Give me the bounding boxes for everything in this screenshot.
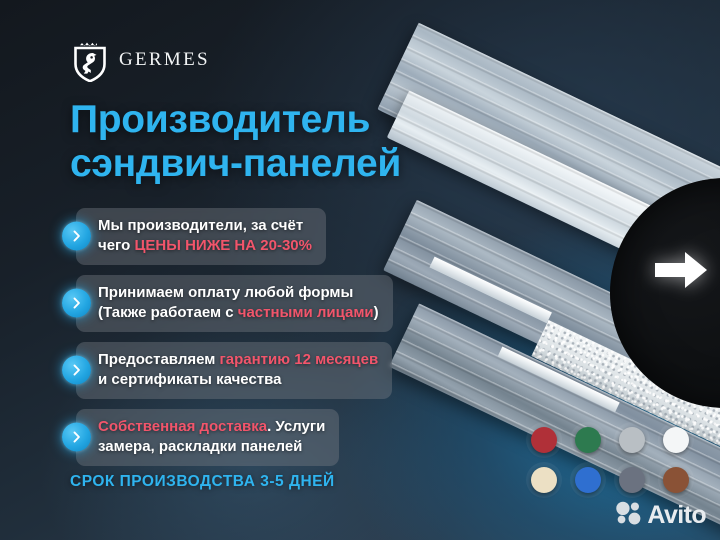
swatch-cell (566, 460, 610, 500)
panel-edge-lip-lower (498, 347, 620, 413)
marketplace-badge: Avito (615, 501, 706, 530)
colour-swatch (619, 467, 645, 493)
benefit-text-box: Собственная доставка. Услугизамера, раск… (76, 409, 339, 466)
benefit-text: Принимаем оплату любой формы (98, 284, 353, 301)
benefit-text-box: Принимаем оплату любой формы(Также работ… (76, 275, 393, 332)
germes-griffin-shield-icon (72, 38, 108, 82)
benefit-line: замера, раскладки панелей (98, 437, 325, 457)
panel-slab-top (377, 23, 720, 312)
benefit-item: Принимаем оплату любой формы(Также работ… (62, 275, 393, 332)
headline-line-1: Производитель (70, 98, 370, 141)
swatch-cell (522, 420, 566, 460)
avito-dots-icon (615, 501, 641, 530)
brand-name: GERMES (119, 49, 210, 71)
panel-foam-core-upper (461, 230, 715, 382)
arrow-right-icon (655, 250, 707, 290)
chevron-right-icon (62, 222, 91, 251)
colour-swatch (531, 427, 557, 453)
benefit-text: чего (98, 237, 134, 254)
benefits-list: Мы производители, за счётчего ЦЕНЫ НИЖЕ … (62, 208, 393, 476)
chevron-right-icon (62, 356, 91, 385)
colour-swatch (663, 467, 689, 493)
production-time-note: СРОК ПРОИЗВОДСТВА 3-5 ДНЕЙ (70, 473, 335, 491)
panel-slab-highlight (387, 91, 720, 323)
benefit-line: чего ЦЕНЫ НИЖЕ НА 20-30% (98, 236, 312, 256)
highlighted-text: гарантию 12 месяцев (220, 351, 379, 368)
benefit-line: Принимаем оплату любой формы (98, 283, 379, 303)
panel-edge-lip-upper (429, 257, 552, 324)
swatch-cell (522, 460, 566, 500)
benefit-line: (Также работаем с частными лицами) (98, 303, 379, 323)
benefit-text: замера, раскладки панелей (98, 438, 302, 455)
chevron-right-icon (62, 289, 91, 318)
highlighted-text: Собственная доставка (98, 418, 267, 435)
highlighted-text: частными лицами (238, 304, 374, 321)
swatch-cell (610, 460, 654, 500)
benefit-text: Предоставляем (98, 351, 220, 368)
benefit-text-box: Мы производители, за счётчего ЦЕНЫ НИЖЕ … (76, 208, 326, 265)
benefit-line: Предоставляем гарантию 12 месяцев (98, 350, 378, 370)
benefit-text: Мы производители, за счёт (98, 217, 303, 234)
benefit-item: Мы производители, за счётчего ЦЕНЫ НИЖЕ … (62, 208, 393, 265)
benefit-text-box: Предоставляем гарантию 12 месяцеви серти… (76, 342, 392, 399)
colour-swatch (531, 467, 557, 493)
benefit-line: Мы производители, за счёт (98, 216, 312, 236)
chevron-right-icon (62, 423, 91, 452)
headline-line-2: сэндвич-панелей (70, 142, 401, 186)
benefit-line: Собственная доставка. Услуги (98, 417, 325, 437)
swatch-cell (654, 460, 698, 500)
swatch-cell (610, 420, 654, 460)
advertisement-banner: GERMES Производитель сэндвич-панелей Мы … (0, 0, 720, 540)
benefit-text: . Услуги (267, 418, 325, 435)
benefit-item: Собственная доставка. Услугизамера, раск… (62, 409, 393, 466)
benefit-line: и сертификаты качества (98, 370, 378, 390)
swatch-cell (566, 420, 610, 460)
benefit-item: Предоставляем гарантию 12 месяцеви серти… (62, 342, 393, 399)
colour-swatch (619, 427, 645, 453)
colour-swatch (663, 427, 689, 453)
swatch-cell (654, 420, 698, 460)
dark-circle-vignette (610, 178, 720, 408)
panel-colour-swatches (522, 420, 698, 500)
benefit-text: (Также работаем с (98, 304, 238, 321)
colour-swatch (575, 467, 601, 493)
marketplace-name: Avito (647, 501, 706, 530)
panel-slab-middle (383, 200, 720, 456)
highlighted-text: ЦЕНЫ НИЖЕ НА 20-30% (134, 237, 312, 254)
page-title: Производитель сэндвич-панелей (70, 98, 401, 186)
colour-swatch (575, 427, 601, 453)
brand-logo: GERMES (72, 38, 210, 82)
benefit-text: и сертификаты качества (98, 371, 282, 388)
benefit-text: ) (374, 304, 379, 321)
